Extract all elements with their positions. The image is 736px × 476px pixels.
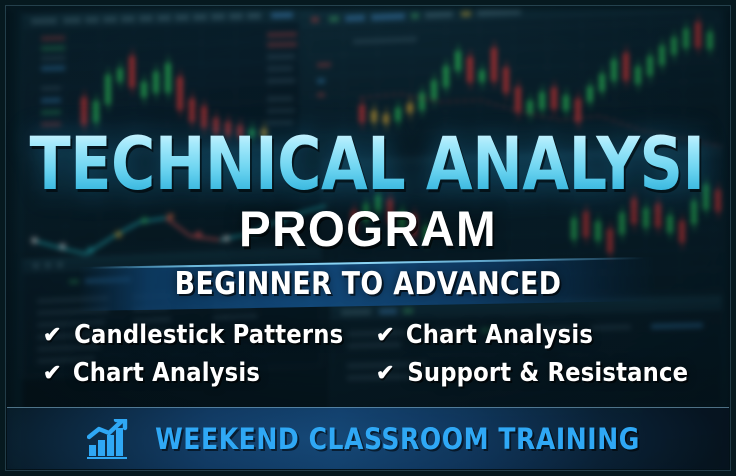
feature-item: ✔ Support & Resistance	[376, 358, 693, 388]
check-icon: ✔	[376, 362, 394, 384]
growth-bar-chart-icon	[87, 419, 129, 459]
check-icon: ✔	[43, 362, 61, 384]
feature-item: ✔ Candlestick Patterns	[43, 320, 348, 350]
feature-label: Candlestick Patterns	[75, 320, 344, 350]
feature-label: Support & Resistance	[408, 358, 689, 388]
poster-title: TECHNICAL ANALYSIS	[29, 128, 706, 201]
banner-label: WEEKEND CLASSROOM TRAINING	[155, 423, 640, 455]
feature-column-right: ✔ Chart Analysis ✔ Support & Resistance	[376, 320, 693, 388]
poster-subtitle: PROGRAM	[18, 204, 717, 254]
check-icon: ✔	[376, 324, 394, 346]
feature-item: ✔ Chart Analysis	[43, 358, 348, 388]
feature-column-left: ✔ Candlestick Patterns ✔ Chart Analysis	[43, 320, 348, 388]
feature-label: Chart Analysis	[73, 358, 260, 388]
bottom-banner: WEEKEND CLASSROOM TRAINING	[7, 407, 729, 469]
feature-list: ✔ Candlestick Patterns ✔ Chart Analysis …	[0, 320, 736, 388]
feature-item: ✔ Chart Analysis	[376, 320, 693, 350]
check-icon: ✔	[43, 324, 61, 346]
poster-content: TECHNICAL ANALYSIS PROGRAM BEGINNER TO A…	[0, 0, 736, 476]
feature-label: Chart Analysis	[406, 320, 593, 350]
poster-band-text: BEGINNER TO ADVANCED	[15, 267, 722, 301]
poster-root: TECHNICAL ANALYSIS PROGRAM BEGINNER TO A…	[0, 0, 736, 476]
